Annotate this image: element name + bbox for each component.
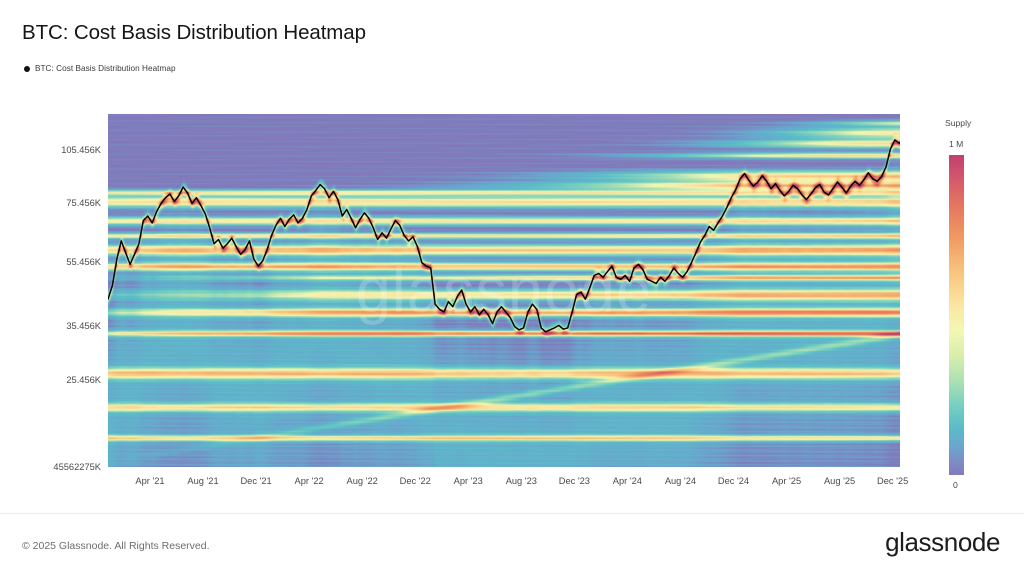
x-axis-tick-label: Apr '21 bbox=[135, 476, 164, 486]
x-axis-tick-label: Aug '22 bbox=[347, 476, 378, 486]
x-axis-tick-label: Dec '25 bbox=[877, 476, 908, 486]
footer-divider bbox=[0, 513, 1024, 514]
x-axis-tick-label: Apr '22 bbox=[295, 476, 324, 486]
colorbar-gradient bbox=[949, 155, 964, 475]
x-axis-tick-label: Dec '22 bbox=[400, 476, 431, 486]
x-axis: Apr '21Aug '21Dec '21Apr '22Aug '22Dec '… bbox=[0, 476, 1024, 492]
x-axis-tick-label: Dec '23 bbox=[559, 476, 590, 486]
chart-plot-area[interactable]: glassnode bbox=[108, 114, 900, 467]
colorbar-min-label: 0 bbox=[953, 480, 958, 490]
y-axis-tick-label: 35.456K bbox=[66, 321, 101, 331]
y-axis-tick-label: 75.456K bbox=[66, 198, 101, 208]
y-axis-tick-label: 45562275K bbox=[53, 462, 101, 472]
glassnode-logo: glassnode bbox=[885, 527, 1000, 558]
x-axis-tick-label: Aug '23 bbox=[506, 476, 537, 486]
y-axis-tick-label: 55.456K bbox=[66, 257, 101, 267]
heatmap-canvas bbox=[108, 114, 900, 467]
x-axis-tick-label: Apr '24 bbox=[613, 476, 642, 486]
colorbar-max-label: 1 M bbox=[949, 139, 963, 149]
footer-copyright: © 2025 Glassnode. All Rights Reserved. bbox=[22, 540, 210, 552]
colorbar-caption: Supply bbox=[945, 118, 971, 128]
colorbar-legend[interactable]: Supply 1 M 0 bbox=[940, 118, 1010, 493]
x-axis-tick-label: Aug '25 bbox=[824, 476, 855, 486]
x-axis-tick-label: Dec '24 bbox=[718, 476, 749, 486]
x-axis-tick-label: Dec '21 bbox=[240, 476, 271, 486]
x-axis-tick-label: Apr '23 bbox=[454, 476, 483, 486]
x-axis-tick-label: Aug '21 bbox=[187, 476, 218, 486]
y-axis-tick-label: 25.456K bbox=[66, 375, 101, 385]
x-axis-tick-label: Apr '25 bbox=[772, 476, 801, 486]
y-axis-tick-label: 105.456K bbox=[61, 145, 101, 155]
x-axis-tick-label: Aug '24 bbox=[665, 476, 696, 486]
